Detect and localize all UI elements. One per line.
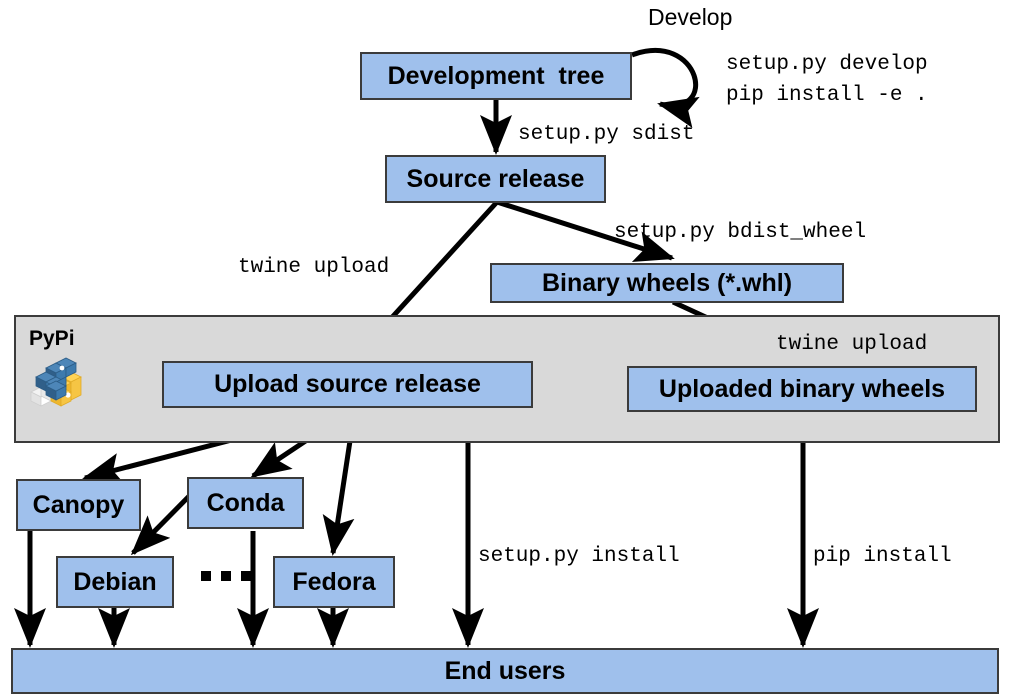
label-setup-py-develop: setup.py develop	[726, 52, 928, 78]
node-source-release[interactable]: Source release	[385, 155, 606, 203]
node-upload-source-release[interactable]: Upload source release	[162, 361, 533, 408]
pypi-group-label: PyPi	[29, 327, 75, 351]
ellipsis-dots	[201, 571, 251, 581]
diagram-canvas: PyPi	[0, 0, 1009, 698]
node-fedora[interactable]: Fedora	[273, 556, 395, 608]
label-setup-py-sdist: setup.py sdist	[518, 122, 694, 148]
label-setup-py-install: setup.py install	[478, 544, 680, 570]
label-pip-install: pip install	[813, 544, 952, 570]
node-canopy[interactable]: Canopy	[16, 479, 141, 531]
edge-develop-loop	[632, 51, 696, 106]
node-conda[interactable]: Conda	[187, 477, 304, 529]
python-logo-3d-icon	[28, 356, 88, 417]
node-end-users[interactable]: End users	[11, 648, 999, 694]
node-binary-wheels[interactable]: Binary wheels (*.whl)	[490, 263, 844, 303]
label-pip-install-editable: pip install -e .	[726, 83, 928, 109]
label-twine-upload-source: twine upload	[238, 255, 389, 281]
label-setup-py-bdist-wheel: setup.py bdist_wheel	[614, 220, 866, 246]
node-debian[interactable]: Debian	[56, 556, 174, 608]
label-twine-upload-wheels: twine upload	[776, 332, 927, 358]
node-development-tree[interactable]: Development tree	[360, 52, 632, 100]
label-develop: Develop	[648, 4, 732, 31]
node-uploaded-binary-wheels[interactable]: Uploaded binary wheels	[627, 366, 977, 412]
